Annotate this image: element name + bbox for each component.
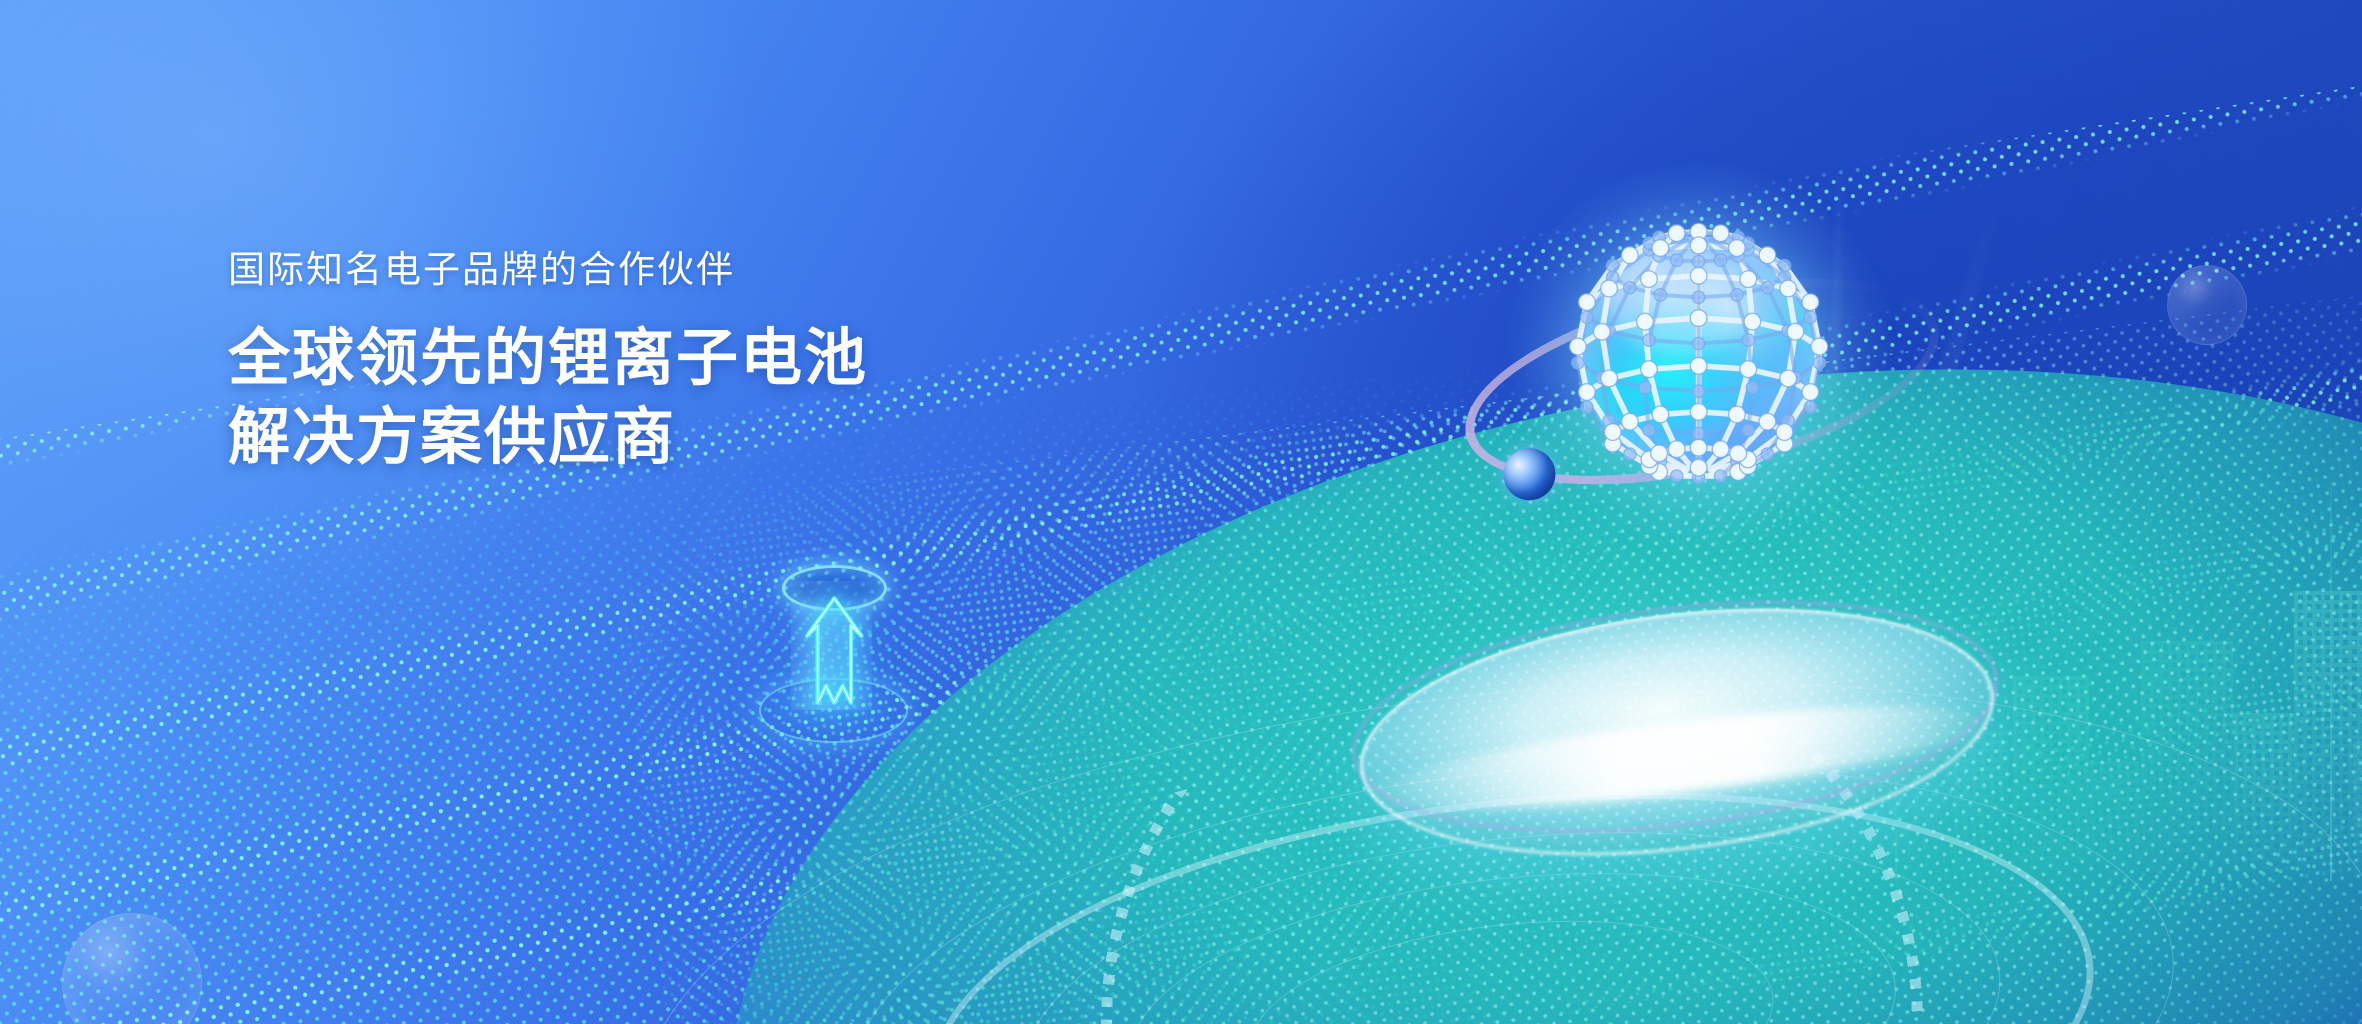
hero-headline-line2: 解决方案供应商 <box>228 399 868 477</box>
hologram-cylinder <box>791 568 871 722</box>
cursor-arrow-icon <box>803 587 866 716</box>
hero-headline-line1: 全球领先的锂离子电池 <box>228 320 868 398</box>
globe-wireframe-svg <box>1564 220 1833 489</box>
wireframe-globe <box>1564 220 1833 491</box>
hero-copy: 国际知名电子品牌的合作伙伴 全球领先的锂离子电池 解决方案供应商 <box>228 248 868 477</box>
hero-banner: 国际知名电子品牌的合作伙伴 全球领先的锂离子电池 解决方案供应商 <box>0 0 2362 1024</box>
bubble-top-right <box>2167 265 2247 345</box>
hero-eyebrow: 国际知名电子品牌的合作伙伴 <box>228 248 868 292</box>
